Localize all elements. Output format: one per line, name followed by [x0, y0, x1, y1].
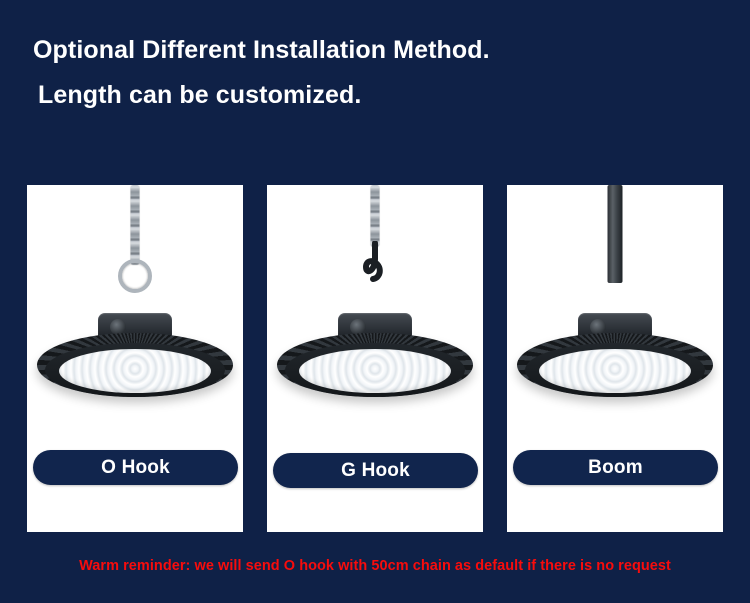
- product-image-o-hook: [27, 185, 243, 455]
- panel-g-hook[interactable]: G Hook: [267, 185, 483, 532]
- headline-line-2: Length can be customized.: [33, 83, 723, 108]
- chain-icon: [131, 185, 140, 265]
- lamp-lens-icon: [299, 349, 451, 393]
- label-pill-o-hook[interactable]: O Hook: [33, 450, 238, 485]
- boom-pole-icon: [608, 185, 623, 283]
- high-bay-lamp-graphic: [37, 313, 233, 433]
- chain-icon: [371, 185, 380, 247]
- panel-boom[interactable]: Boom: [507, 185, 723, 532]
- o-ring-hook-icon: [118, 259, 152, 293]
- label-pill-boom[interactable]: Boom: [513, 450, 718, 485]
- high-bay-lamp-graphic: [517, 313, 713, 433]
- panel-o-hook[interactable]: O Hook: [27, 185, 243, 532]
- product-image-g-hook: [267, 185, 483, 455]
- panel-label-boom: Boom: [588, 457, 643, 479]
- g-hook-icon: [358, 241, 392, 285]
- product-image-boom: [507, 185, 723, 455]
- panel-label-o-hook: O Hook: [101, 457, 170, 479]
- headline-line-1: Optional Different Installation Method.: [33, 38, 723, 63]
- lamp-lens-icon: [59, 349, 211, 393]
- installation-method-panels: O Hook G Hook: [27, 185, 723, 532]
- lamp-lens-icon: [539, 349, 691, 393]
- label-pill-g-hook[interactable]: G Hook: [273, 453, 478, 488]
- high-bay-lamp-graphic: [277, 313, 473, 433]
- warm-reminder-text: Warm reminder: we will send O hook with …: [0, 558, 750, 574]
- page-headline: Optional Different Installation Method. …: [33, 38, 723, 108]
- panel-label-g-hook: G Hook: [341, 460, 410, 482]
